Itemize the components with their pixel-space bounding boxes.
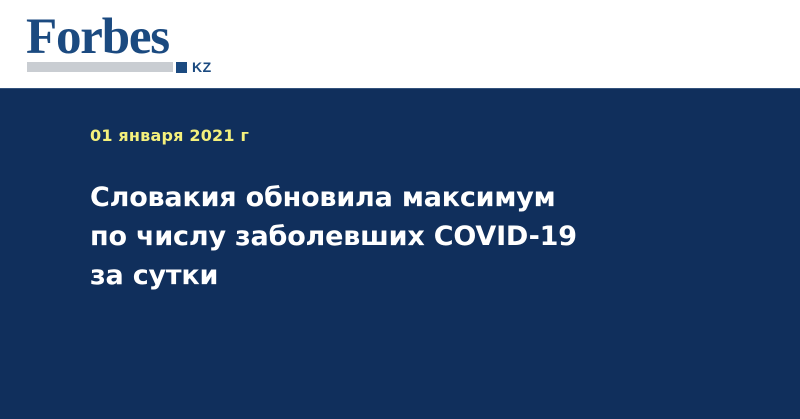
logo-wordmark: Forbes [26, 12, 169, 62]
hero-top-divider [0, 88, 800, 89]
article-hero: 01 января 2021 г Словакия обновила макси… [0, 88, 800, 419]
article-date: 01 января 2021 г [90, 126, 249, 146]
forbes-kz-logo[interactable]: Forbes KZ [26, 12, 236, 76]
logo-country-suffix: KZ [192, 60, 212, 74]
article-headline[interactable]: Словакия обновила максимум по числу забо… [90, 178, 595, 295]
article-preview-card: Forbes KZ 01 января 2021 г Словакия обно… [0, 0, 800, 419]
site-header: Forbes KZ [0, 0, 800, 88]
logo-square-icon [176, 62, 187, 73]
logo-rule-icon [27, 62, 173, 72]
